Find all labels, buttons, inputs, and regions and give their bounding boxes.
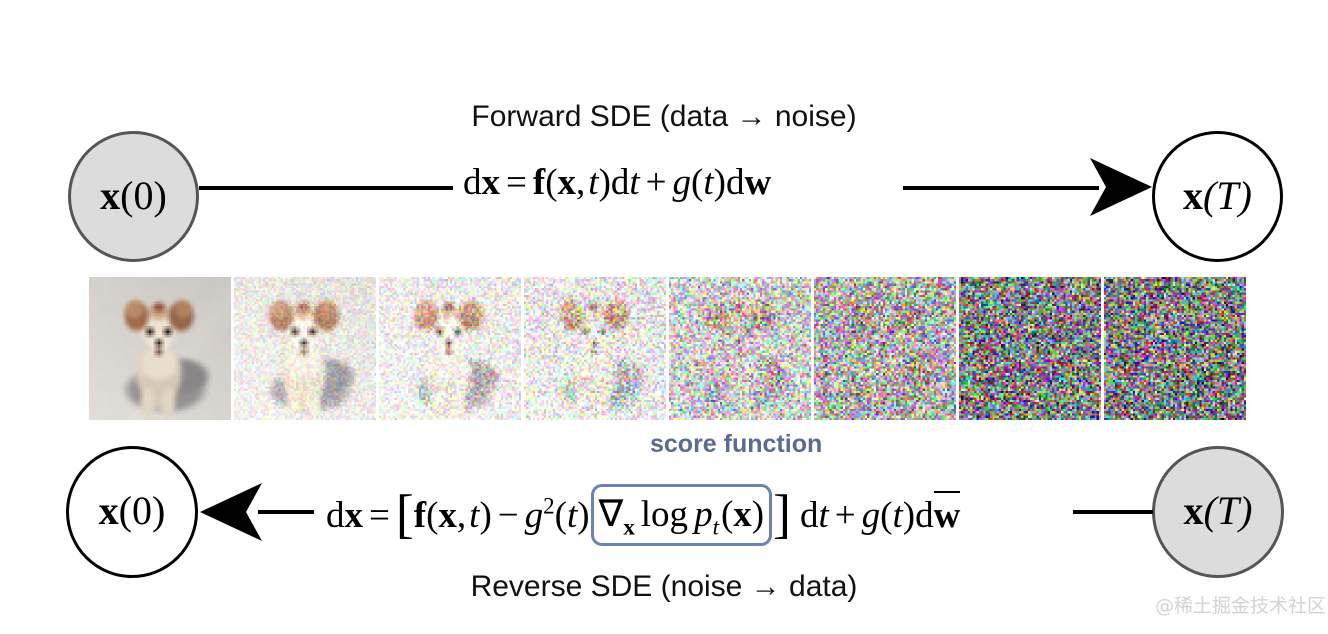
reverse-sde-equation: dx = [ f(x,t) − g2(t) ∇x log pt(x) ] dt … xyxy=(326,484,960,546)
reverse-arrowhead-left xyxy=(198,482,262,542)
paren-zero: (0) xyxy=(120,173,167,218)
dt-term: dt xyxy=(611,161,640,204)
reverse-line-right xyxy=(1073,510,1153,514)
minus-sign: − xyxy=(492,494,525,537)
score-function-highlight-box: ∇x log pt(x) xyxy=(591,484,773,546)
reverse-sde-caption: Reverse SDE (noise → data) xyxy=(0,570,1328,604)
watermark: @稀土掘金技术社区 xyxy=(1155,591,1326,618)
forward-sde-caption: Forward SDE (data → noise) xyxy=(0,100,1328,134)
dx-term: dx xyxy=(326,494,363,537)
node-x0-top-label: x(0) xyxy=(100,176,167,216)
node-xT-bottom: x(T) xyxy=(1152,446,1284,578)
bold-x-glyph: x xyxy=(1183,173,1203,218)
forward-arrowhead-right xyxy=(1090,156,1154,218)
left-bracket: [ xyxy=(396,483,414,545)
forward-line-left xyxy=(199,186,453,190)
node-x0-bottom-label: x(0) xyxy=(99,491,166,531)
diffusion-term: g(t) xyxy=(862,494,915,537)
equals-sign: = xyxy=(363,494,396,537)
diffusion-frame-5 xyxy=(814,277,956,420)
paren-zero: (0) xyxy=(119,488,166,533)
dwbar-term: dw xyxy=(915,494,960,537)
diffusion-image-strip xyxy=(89,277,1246,420)
drift-term: f(x,t) xyxy=(533,161,611,204)
node-x0-top: x(0) xyxy=(68,131,199,262)
equals-sign: = xyxy=(500,161,533,204)
node-x0-bottom: x(0) xyxy=(66,446,198,578)
score-function-label: score function xyxy=(650,430,822,459)
plus-sign: + xyxy=(829,494,862,537)
bold-x-glyph: x xyxy=(99,488,119,533)
dw-term: dw xyxy=(726,161,771,204)
bold-x-glyph: x xyxy=(1184,488,1204,533)
diffusion-frame-7 xyxy=(1104,277,1246,420)
paren-T: (T) xyxy=(1203,173,1252,218)
reverse-line-left xyxy=(258,510,314,514)
node-xT-top: x(T) xyxy=(1152,131,1283,262)
node-xT-top-label: x(T) xyxy=(1183,176,1252,216)
right-bracket: ] xyxy=(773,483,791,545)
marginal-density: pt(x) xyxy=(694,493,764,536)
g-squared-term: g2(t) xyxy=(525,494,590,537)
diffusion-frame-2 xyxy=(379,277,521,420)
nabla-operator: ∇x xyxy=(599,492,635,536)
plus-sign: + xyxy=(640,161,673,204)
dx-term: dx xyxy=(463,161,500,204)
drift-term: f(x,t) xyxy=(414,494,492,537)
figure-canvas: Forward SDE (data → noise) x(0) x(T) dx … xyxy=(0,0,1328,634)
forward-line-right xyxy=(903,186,1099,190)
paren-T: (T) xyxy=(1204,488,1253,533)
diffusion-frame-6 xyxy=(959,277,1101,420)
node-xT-bottom-label: x(T) xyxy=(1184,491,1253,531)
diffusion-frame-1 xyxy=(234,277,376,420)
dt-term: dt xyxy=(791,494,829,537)
log-operator: log xyxy=(635,493,694,536)
diffusion-frame-3 xyxy=(524,277,666,420)
diffusion-frame-0 xyxy=(89,277,231,420)
diffusion-frame-4 xyxy=(669,277,811,420)
diffusion-term: g(t) xyxy=(673,161,726,204)
w-with-overbar: w xyxy=(934,494,961,537)
bold-x-glyph: x xyxy=(100,173,120,218)
forward-sde-equation: dx = f(x,t) dt + g(t) dw xyxy=(463,161,771,204)
